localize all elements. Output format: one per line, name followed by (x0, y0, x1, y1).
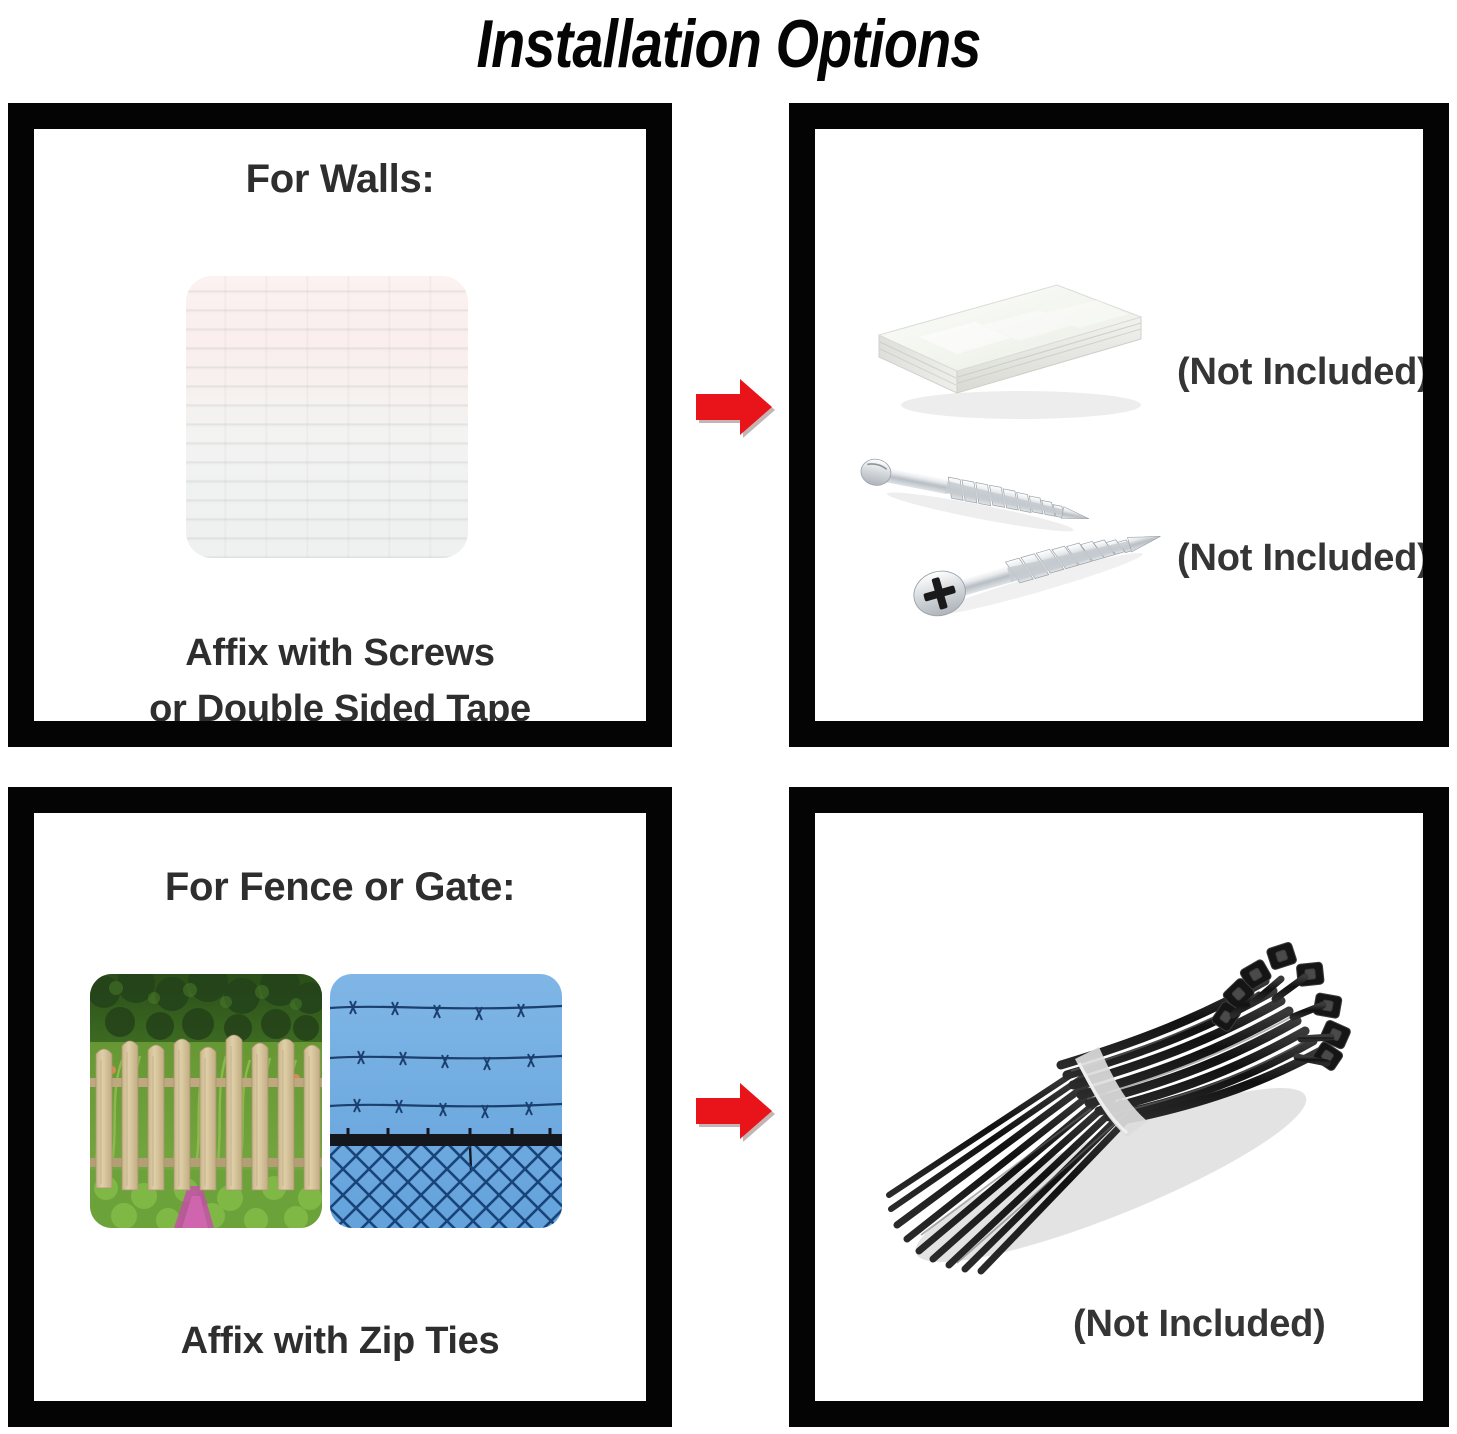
screws-not-included-label: (Not Included) (1177, 537, 1423, 580)
silver-wood-screws (835, 439, 1195, 649)
for-walls-caption-line-1: Affix with Screws (34, 625, 646, 681)
panel-wall-hardware-inner: (Not Included) (815, 129, 1423, 721)
page-title: Installation Options (131, 2, 1326, 86)
for-walls-header: For Walls: (34, 157, 646, 202)
for-walls-caption: Affix with Screws or Double Sided Tape (34, 625, 646, 721)
wooden-picket-fence-photo (90, 974, 322, 1228)
panel-for-walls: For Walls: Affix with Screws or Double S… (8, 103, 672, 747)
panel-fence-hardware-inner: (Not Included) (815, 813, 1423, 1401)
panel-for-fence-inner: For Fence or Gate: (34, 813, 646, 1401)
panel-for-walls-inner: For Walls: Affix with Screws or Double S… (34, 129, 646, 721)
for-walls-caption-line-2: or Double Sided Tape (34, 681, 646, 721)
black-zip-tie-bundle (861, 913, 1371, 1293)
for-fence-caption: Affix with Zip Ties (34, 1313, 646, 1369)
double-sided-tape-stack (861, 229, 1171, 429)
panel-for-fence-or-gate: For Fence or Gate: (8, 787, 672, 1427)
panel-wall-hardware: (Not Included) (789, 103, 1449, 747)
for-fence-header: For Fence or Gate: (34, 865, 646, 910)
white-brick-wall-photo (186, 276, 468, 558)
tape-not-included-label: (Not Included) (1177, 351, 1423, 394)
panel-fence-hardware: (Not Included) (789, 787, 1449, 1427)
chain-link-barbed-wire-fence-photo (330, 974, 562, 1228)
red-right-arrow-fence (692, 1080, 776, 1142)
red-right-arrow-walls (692, 376, 776, 438)
zip-ties-not-included-label: (Not Included) (1073, 1303, 1326, 1346)
